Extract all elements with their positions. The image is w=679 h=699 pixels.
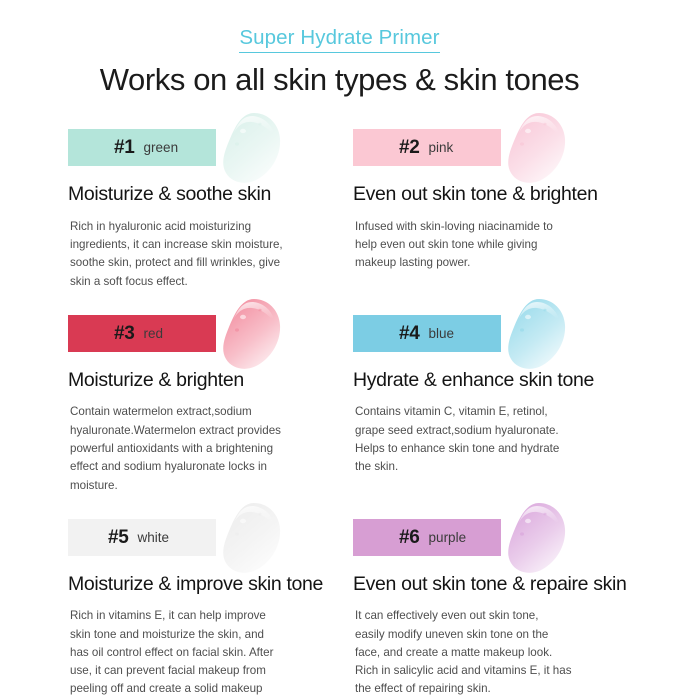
swatch-bar-red[interactable]: #3red [68,315,216,352]
description-line: Helps to enhance skin tone and hydrate [355,440,617,458]
cream-smear-icon [498,297,570,373]
description-line: makeup lasting power. [355,254,617,272]
shade-card-pink[interactable]: #2pinkEven out skin tone & brightenInfus… [353,117,638,291]
description-line: grape seed extract,sodium hyaluronate. [355,422,617,440]
description-line: peeling off and create a solid makeup [70,680,332,698]
shade-card-description: It can effectively even out skin tone,ea… [355,607,617,699]
shade-card-purple[interactable]: #6purpleEven out skin tone & repaire ski… [353,507,638,699]
page-headline: Works on all skin types & skin tones [0,62,679,98]
cream-smear-icon [213,111,285,187]
swatch-number: #5 [108,528,129,547]
product-info-page: Super Hydrate Primer Works on all skin t… [0,0,679,679]
swatch-color-name: white [138,531,170,545]
shade-card-grid: #1greenMoisturize & soothe skinRich in h… [0,117,679,699]
description-line: It can effectively even out skin tone, [355,607,617,625]
description-line: hyaluronate.Watermelon extract provides [70,422,332,440]
description-line: soothe skin, protect and fill wrinkles, … [70,254,332,272]
shade-card-white[interactable]: #5whiteMoisturize & improve skin toneRic… [68,507,353,699]
shade-card-title: Hydrate & enhance skin tone [353,369,638,392]
shade-card-description: Rich in hyaluronic acid moisturizingingr… [70,218,332,291]
shade-card-description: Contain watermelon extract,sodiumhyaluro… [70,403,332,495]
shade-card-title: Moisturize & improve skin tone [68,573,353,596]
swatch-number: #1 [114,138,135,157]
cream-smear-icon [498,111,570,187]
shade-card-red[interactable]: #3redMoisturize & brightenContain waterm… [68,303,353,495]
cream-smear-icon [498,501,570,577]
swatch-number: #3 [114,324,135,343]
swatch-row: #2pink [353,117,638,183]
shade-card-description: Contains vitamin C, vitamin E, retinol,g… [355,403,617,476]
swatch-bar-pink[interactable]: #2pink [353,129,501,166]
swatch-number: #2 [399,138,420,157]
description-line: has oil control effect on facial skin. A… [70,644,332,662]
page-header: Super Hydrate Primer Works on all skin t… [0,0,679,97]
description-line: moisture. [70,477,332,495]
description-line: skin tone and moisturize the skin, and [70,626,332,644]
swatch-row: #4blue [353,303,638,369]
shade-card-description: Rich in vitamins E, it can help improves… [70,607,332,699]
description-line: the skin. [355,458,617,476]
swatch-color-name: green [144,141,179,155]
swatch-bar-white[interactable]: #5white [68,519,216,556]
cream-smear-icon [213,297,285,373]
brand-title-link[interactable]: Super Hydrate Primer [239,26,439,53]
description-line: face, and create a matte makeup look. [355,644,617,662]
shade-card-title: Moisturize & soothe skin [68,183,353,206]
shade-card-description: Infused with skin-loving niacinamide toh… [355,218,617,273]
swatch-number: #4 [399,324,420,343]
swatch-row: #3red [68,303,353,369]
description-line: Infused with skin-loving niacinamide to [355,218,617,236]
description-line: help even out skin tone while giving [355,236,617,254]
description-line: Contain watermelon extract,sodium [70,403,332,421]
description-line: Rich in salicylic acid and vitamins E, i… [355,662,617,680]
swatch-row: #6purple [353,507,638,573]
swatch-bar-blue[interactable]: #4blue [353,315,501,352]
description-line: skin a soft focus effect. [70,273,332,291]
swatch-row: #1green [68,117,353,183]
shade-card-title: Even out skin tone & repaire skin [353,573,638,596]
description-line: Rich in vitamins E, it can help improve [70,607,332,625]
description-line: ingredients, it can increase skin moistu… [70,236,332,254]
description-line: use, it can prevent facial makeup from [70,662,332,680]
shade-card-green[interactable]: #1greenMoisturize & soothe skinRich in h… [68,117,353,291]
description-line: effect and sodium hyaluronate locks in [70,458,332,476]
swatch-color-name: blue [429,327,455,341]
swatch-row: #5white [68,507,353,573]
description-line: the effect of repairing skin. [355,680,617,698]
description-line: Rich in hyaluronic acid moisturizing [70,218,332,236]
swatch-bar-purple[interactable]: #6purple [353,519,501,556]
swatch-number: #6 [399,528,420,547]
swatch-color-name: pink [429,141,454,155]
swatch-bar-green[interactable]: #1green [68,129,216,166]
shade-card-title: Even out skin tone & brighten [353,183,638,206]
shade-card-blue[interactable]: #4blueHydrate & enhance skin toneContain… [353,303,638,495]
shade-card-title: Moisturize & brighten [68,369,353,392]
description-line: powerful antioxidants with a brightening [70,440,332,458]
cream-smear-icon [213,501,285,577]
swatch-color-name: red [144,327,164,341]
description-line: Contains vitamin C, vitamin E, retinol, [355,403,617,421]
swatch-color-name: purple [429,531,467,545]
description-line: easily modify uneven skin tone on the [355,626,617,644]
